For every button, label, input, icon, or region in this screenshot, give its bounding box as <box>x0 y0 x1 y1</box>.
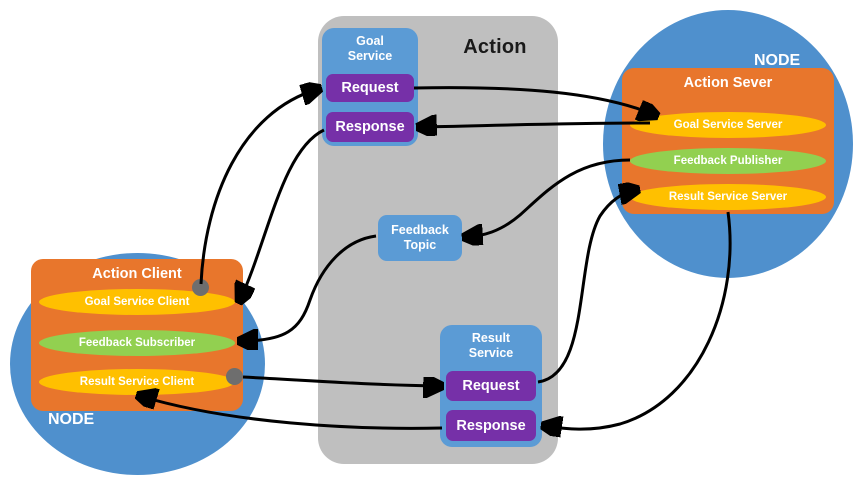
action-panel-title: Action <box>440 36 550 59</box>
action-client-connector-dot <box>192 279 209 296</box>
result-service-client-pill[interactable]: Result Service Client <box>39 369 235 395</box>
feedback-topic-line2: Topic <box>404 238 436 253</box>
result-service-client-connector-dot <box>226 368 243 385</box>
feedback-topic-box[interactable]: Feedback Topic <box>378 215 462 261</box>
goal-service-server-pill[interactable]: Goal Service Server <box>630 112 826 138</box>
action-server-title: Action Sever <box>622 75 834 91</box>
result-service-response-box[interactable]: Response <box>446 410 536 441</box>
diagram-canvas: Action NODE Action Sever Goal Service Se… <box>0 0 854 480</box>
goal-service-request-box[interactable]: Request <box>326 74 414 102</box>
goal-service-response-box[interactable]: Response <box>326 112 414 142</box>
arrow-client-to-goal-request <box>201 89 318 284</box>
goal-service-title: Goal Service <box>322 34 418 65</box>
goal-service-title-line2: Service <box>348 49 392 63</box>
result-service-request-box[interactable]: Request <box>446 371 536 401</box>
result-service-title-line2: Service <box>469 346 513 360</box>
goal-service-title-line1: Goal <box>356 34 384 48</box>
result-service-title-line1: Result <box>472 331 510 345</box>
feedback-subscriber-pill[interactable]: Feedback Subscriber <box>39 330 235 356</box>
result-service-title: Result Service <box>440 331 542 362</box>
result-service-server-pill[interactable]: Result Service Server <box>630 184 826 210</box>
action-client-title: Action Client <box>31 266 243 282</box>
feedback-topic-line1: Feedback <box>391 223 449 238</box>
client-node-label: NODE <box>48 411 94 429</box>
arrow-goal-response-to-client <box>240 130 324 300</box>
feedback-publisher-pill[interactable]: Feedback Publisher <box>630 148 826 174</box>
